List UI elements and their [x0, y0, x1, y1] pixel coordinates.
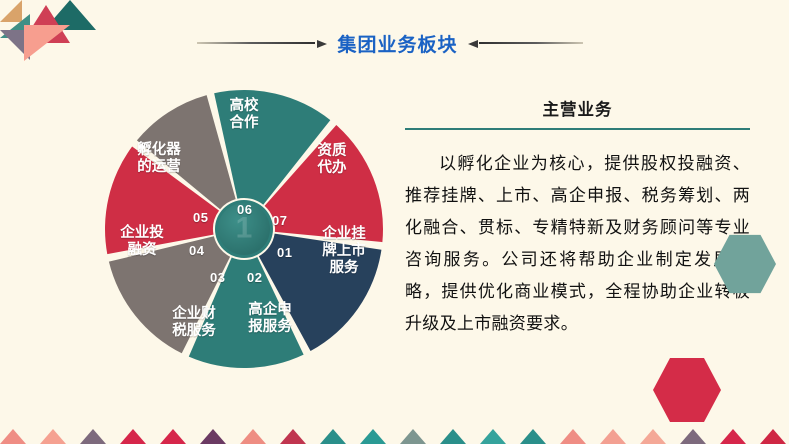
business-pie-chart: 1 高校 合作 资质 代办 企业挂 牌上市 服务 高企申 报服务 企业财 税服务…: [104, 80, 394, 390]
pie-label-04: 企业投 融资: [104, 225, 180, 259]
pie-label-02: 高企申 报服务: [235, 302, 305, 336]
strip-triangle: [680, 429, 706, 444]
strip-triangle: [360, 429, 386, 444]
pie-number-06: 06: [237, 202, 252, 217]
bottom-triangle-strip: [0, 424, 789, 444]
strip-triangle: [80, 429, 106, 444]
strip-triangle: [440, 429, 466, 444]
strip-triangle: [720, 429, 746, 444]
title-arrow-right-icon: [468, 40, 583, 47]
pie-label-06: 高校 合作: [207, 98, 281, 132]
pie-label-05: 孵化器 的运营: [121, 142, 197, 176]
strip-triangle: [640, 429, 666, 444]
pie-number-05: 05: [193, 210, 208, 225]
main-business-paragraph: 以孵化企业为核心，提供股权投融资、推荐挂牌、上市、高企申报、税务筹划、两化融合、…: [405, 148, 750, 340]
pie-number-04: 04: [189, 243, 204, 258]
strip-triangle: [520, 429, 546, 444]
pie-label-01: 企业挂 牌上市 服务: [309, 226, 379, 277]
pie-number-07: 07: [272, 213, 287, 228]
strip-triangle: [280, 429, 306, 444]
strip-triangle: [760, 429, 786, 444]
main-business-panel: 主营业务 以孵化企业为核心，提供股权投融资、推荐挂牌、上市、高企申报、税务筹划、…: [405, 96, 750, 340]
main-business-divider: [405, 128, 750, 130]
pie-label-07: 资质 代办: [301, 143, 363, 177]
crimson-hexagon: [653, 356, 721, 424]
pie-label-03: 企业财 税服务: [159, 306, 229, 340]
corner-decoration: [0, 0, 92, 62]
slide-title-bar: 集团业务板块: [180, 26, 600, 60]
strip-triangle: [200, 429, 226, 444]
strip-triangle: [600, 429, 626, 444]
strip-triangle: [0, 429, 26, 444]
strip-triangle: [400, 429, 426, 444]
slide-canvas: 集团业务板块 1 高校 合作 资质 代办 企业挂 牌上市 服务 高企申 报服务 …: [0, 0, 789, 444]
pie-number-02: 02: [247, 270, 262, 285]
strip-triangle: [480, 429, 506, 444]
strip-triangle: [40, 429, 66, 444]
title-arrow-left-icon: [197, 40, 327, 47]
pie-number-03: 03: [210, 270, 225, 285]
strip-triangle: [560, 429, 586, 444]
main-business-heading: 主营业务: [405, 96, 750, 120]
pie-number-01: 01: [277, 245, 292, 260]
strip-triangle: [160, 429, 186, 444]
strip-triangle: [320, 429, 346, 444]
triangle-salmon: [24, 25, 70, 61]
strip-triangle: [120, 429, 146, 444]
page-title: 集团业务板块: [337, 30, 457, 57]
strip-triangle: [240, 429, 266, 444]
teal-hexagon: [714, 233, 776, 295]
